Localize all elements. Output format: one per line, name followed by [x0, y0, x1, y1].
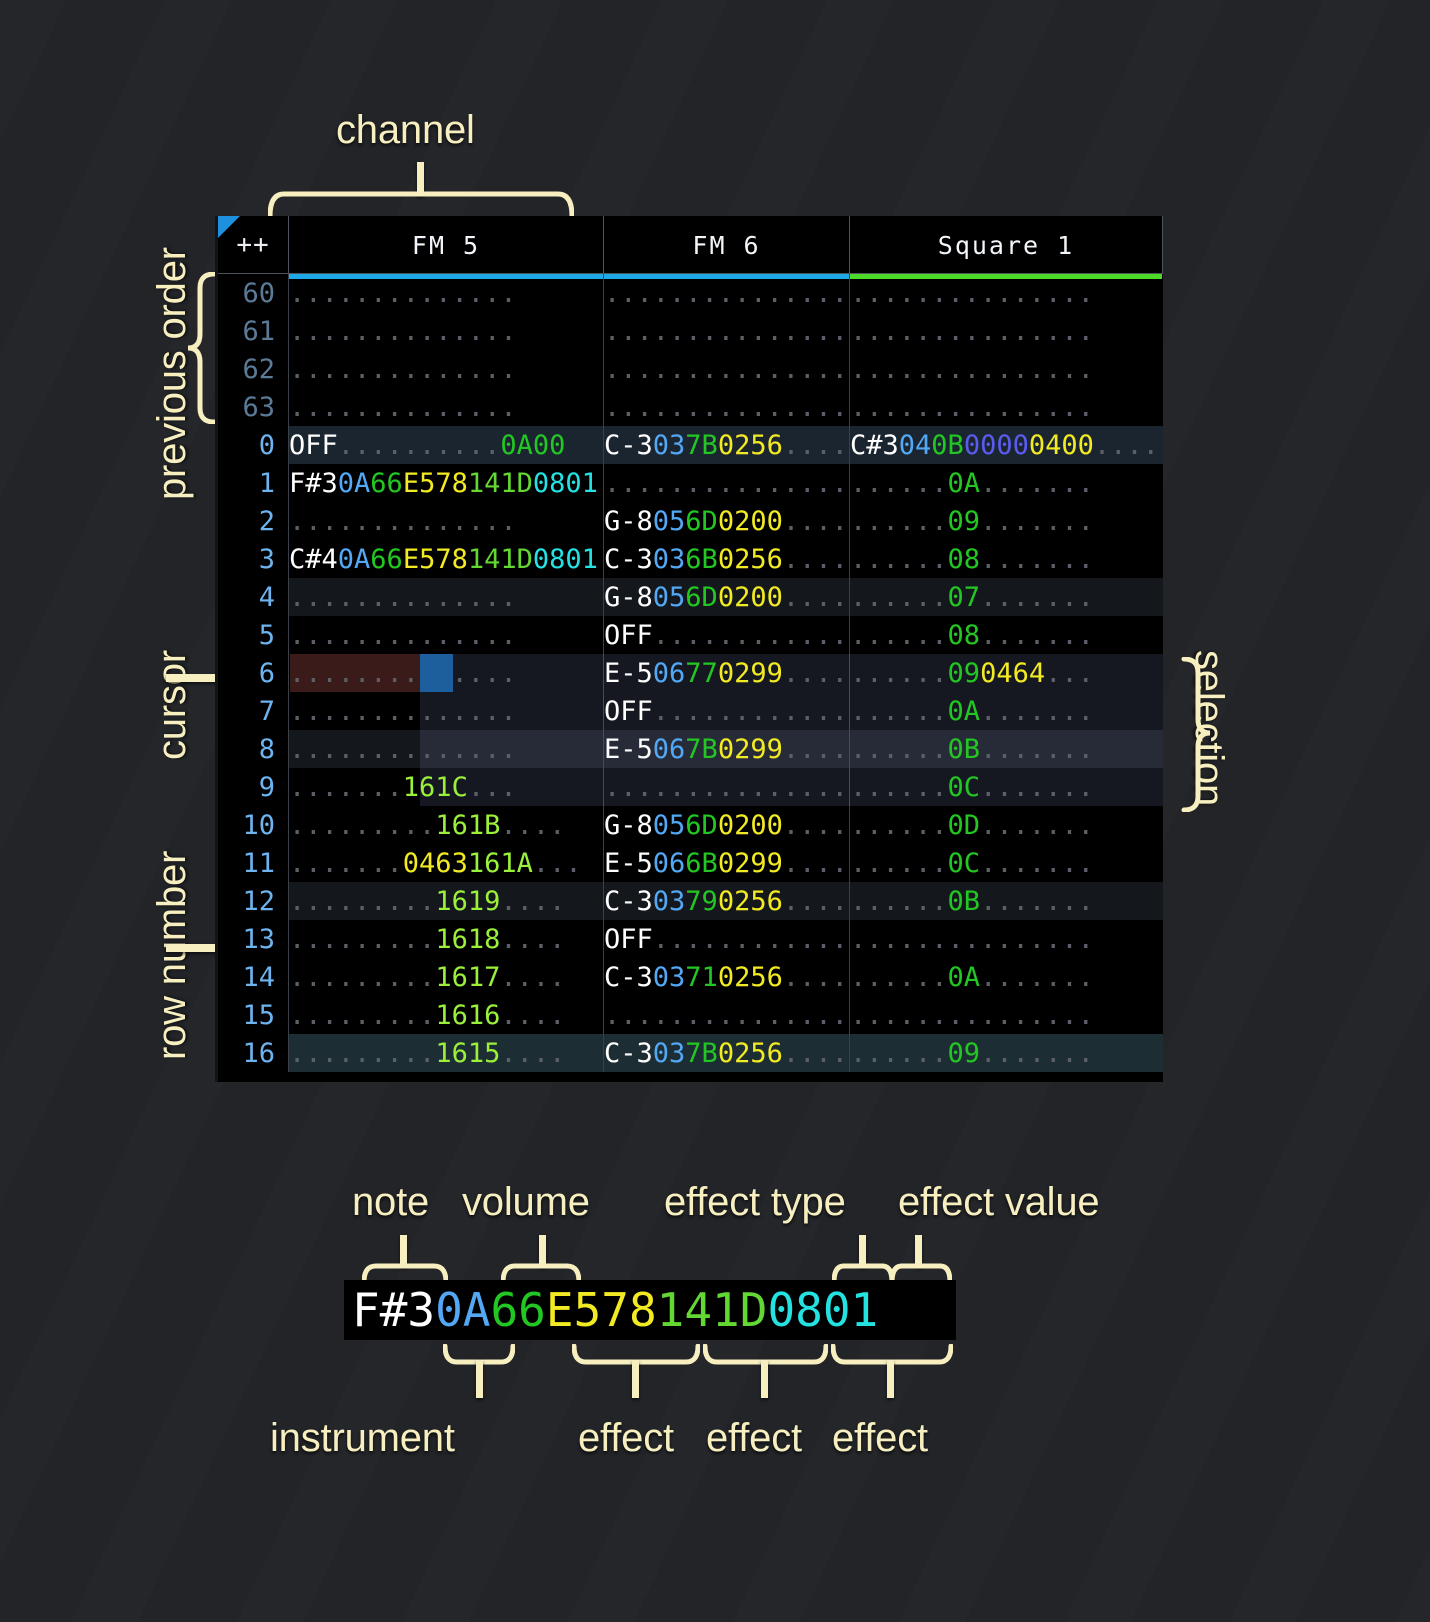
pattern-cell-fm6[interactable]: C-303790256....: [604, 882, 850, 920]
cell-segment: ....: [783, 544, 848, 575]
cell-segment: 05: [653, 582, 686, 613]
cell-segment: G-8: [604, 506, 653, 537]
cell-segment: 0A: [948, 696, 981, 727]
cell-segment: E578: [403, 468, 468, 499]
pattern-cell-square1[interactable]: C#3040B00000400....: [850, 426, 1163, 464]
cell-segment: 09: [948, 506, 981, 537]
cell-segment: 08: [948, 620, 981, 651]
legend-segment: 66: [490, 1283, 545, 1337]
pattern-cell-fm5[interactable]: C#40A66E578141D0801: [289, 540, 604, 578]
row-number: 62: [218, 350, 289, 388]
cell-segment: ....: [783, 734, 848, 765]
pattern-cell-fm5[interactable]: .......0463161A...: [289, 844, 604, 882]
cell-segment: .......: [980, 468, 1094, 499]
pattern-row[interactable]: 60......................................…: [218, 274, 1163, 312]
cell-segment: 06: [653, 848, 686, 879]
annotation-effect3-stem: [887, 1360, 894, 1398]
cell-segment: 161A: [468, 848, 533, 879]
cell-segment: .........: [289, 810, 435, 841]
cell-segment: ......: [850, 620, 948, 651]
cell-segment: 0400: [1029, 430, 1094, 461]
row-number: 60: [218, 274, 289, 312]
pattern-row[interactable]: 10.........161B....G-8056D0200..........…: [218, 806, 1163, 844]
cell-segment: 04: [899, 430, 932, 461]
row-cells: ..............OFF..................0A...…: [289, 692, 1163, 730]
pattern-cell-square1[interactable]: ......08.......: [850, 540, 1163, 578]
cell-segment: .........: [289, 962, 435, 993]
cell-segment: ......: [850, 544, 948, 575]
cell-segment: E-5: [604, 848, 653, 879]
pattern-cell-square1[interactable]: ......0D.......: [850, 806, 1163, 844]
pattern-row[interactable]: 8..............E-5067B0299..........0B..…: [218, 730, 1163, 768]
pattern-row[interactable]: 0OFF..........0A00C-3037B0256....C#3040B…: [218, 426, 1163, 464]
pattern-cell-fm6[interactable]: OFF............: [604, 616, 850, 654]
pattern-row[interactable]: 1F#30A66E578141D0801....................…: [218, 464, 1163, 502]
cell-segment: 1619: [435, 886, 500, 917]
cell-segment: 0A: [948, 962, 981, 993]
cell-segment: ......: [850, 658, 948, 689]
cell-segment: ...............: [604, 278, 848, 309]
pattern-row[interactable]: 15.........1616.........................…: [218, 996, 1163, 1034]
cell-segment: C-3: [604, 544, 653, 575]
cell-segment: 08: [948, 544, 981, 575]
pattern-cell-fm6[interactable]: E-5066B0299....: [604, 844, 850, 882]
cell-segment: C#4: [289, 544, 338, 575]
row-number: 9: [218, 768, 289, 806]
cell-segment: 0299: [718, 734, 783, 765]
cell-segment: 0A: [948, 468, 981, 499]
cell-segment: ...............: [850, 1000, 1094, 1031]
pattern-cell-fm6[interactable]: ...............: [604, 388, 850, 426]
pattern-cell-square1[interactable]: ......0C.......: [850, 768, 1163, 806]
legend-segment: E578: [546, 1283, 657, 1337]
cell-segment: .......: [980, 582, 1094, 613]
pattern-cell-square1[interactable]: ......090464...: [850, 654, 1163, 692]
cell-segment: ..............: [289, 354, 517, 385]
pattern-cell-fm5[interactable]: F#30A66E578141D0801: [289, 464, 604, 502]
pattern-cell-fm5[interactable]: ..............: [289, 616, 604, 654]
pattern-cell-fm6[interactable]: ...............: [604, 768, 850, 806]
cell-segment: C#3: [850, 430, 899, 461]
cell-segment: ......: [850, 696, 948, 727]
legend-segment: 0801: [767, 1283, 878, 1337]
cell-segment: ...............: [604, 354, 848, 385]
cell-segment: .........: [289, 924, 435, 955]
annotation-effect2-stem: [761, 1360, 768, 1398]
annotation-cursor-label: cursor: [150, 650, 195, 760]
row-cells: ..............OFF..................08...…: [289, 616, 1163, 654]
cell-segment: 0463: [403, 848, 468, 879]
row-number: 3: [218, 540, 289, 578]
cell-segment: .........: [289, 1038, 435, 1069]
pattern-cell-square1[interactable]: ......08.......: [850, 616, 1163, 654]
channel-header-square1-label: Square 1: [938, 231, 1074, 260]
annotation-effect1-label: effect: [578, 1416, 674, 1461]
cell-segment: 0256: [718, 886, 783, 917]
pattern-cell-fm5[interactable]: ..............: [289, 312, 604, 350]
cell-segment: 0256: [718, 430, 783, 461]
pattern-row[interactable]: 63......................................…: [218, 388, 1163, 426]
row-cells: ..............G-8056D0200..........09...…: [289, 502, 1163, 540]
annotation-row-number-label: row number: [150, 851, 195, 1060]
row-number: 16: [218, 1034, 289, 1072]
pattern-row[interactable]: 3C#40A66E578141D0801C-3036B0256.........…: [218, 540, 1163, 578]
pattern-row[interactable]: 6..............E-506770299..........0904…: [218, 654, 1163, 692]
pattern-cell-fm6[interactable]: ...............: [604, 312, 850, 350]
row-number: 4: [218, 578, 289, 616]
pattern-cell-fm6[interactable]: E-5067B0299....: [604, 730, 850, 768]
cell-segment: .......: [980, 506, 1094, 537]
row-number: 2: [218, 502, 289, 540]
cell-segment: ............: [653, 696, 848, 727]
cell-segment: .......: [980, 696, 1094, 727]
cell-segment: 6B: [685, 544, 718, 575]
pattern-cell-fm6[interactable]: C-3036B0256....: [604, 540, 850, 578]
pattern-row[interactable]: 7..............OFF..................0A..…: [218, 692, 1163, 730]
cell-segment: 03: [653, 886, 686, 917]
cell-segment: ....: [500, 924, 565, 955]
cell-segment: 1615: [435, 1038, 500, 1069]
pattern-cell-fm6[interactable]: E-506770299....: [604, 654, 850, 692]
cell-segment: ...............: [604, 772, 848, 803]
row-cells: .........1619....C-303790256..........0B…: [289, 882, 1163, 920]
row-cells: .......161C........................0C...…: [289, 768, 1163, 806]
pattern-cell-square1[interactable]: ......0A.......: [850, 692, 1163, 730]
cell-segment: .......: [980, 772, 1094, 803]
cell-segment: 03: [653, 430, 686, 461]
cell-segment: 0D: [948, 810, 981, 841]
cell-segment: ......: [850, 962, 948, 993]
cell-segment: 07: [948, 582, 981, 613]
pattern-cell-fm5[interactable]: .........161B....: [289, 806, 604, 844]
cell-segment: ....: [500, 1038, 565, 1069]
pattern-cell-fm5[interactable]: OFF..........0A00: [289, 426, 604, 464]
cell-segment: 6B: [685, 848, 718, 879]
cell-segment: 6D: [685, 506, 718, 537]
pattern-cell-fm5[interactable]: .......161C...: [289, 768, 604, 806]
annotation-effect-value-label: effect value: [898, 1180, 1099, 1225]
cell-segment: ...............: [850, 924, 1094, 955]
pattern-cell-fm5[interactable]: ..............: [289, 502, 604, 540]
cell-segment: 0A00: [500, 430, 565, 461]
cell-segment: ......: [850, 506, 948, 537]
cell-segment: .......: [980, 620, 1094, 651]
annotation-effect3-label: effect: [832, 1416, 928, 1461]
cell-segment: 66: [370, 544, 403, 575]
pattern-cell-fm6[interactable]: G-8056D0200....: [604, 578, 850, 616]
pattern-cell-fm6[interactable]: ...............: [604, 464, 850, 502]
cell-segment: 0299: [718, 848, 783, 879]
cell-segment: 77: [685, 658, 718, 689]
cell-segment: ....: [783, 582, 848, 613]
row-cells: ........................................…: [289, 350, 1163, 388]
pattern-cell-legend: F#30A66E578141D0801: [344, 1280, 956, 1340]
cell-segment: 0801: [533, 468, 598, 499]
cell-segment: .......: [980, 962, 1094, 993]
annotation-effect1-stem: [632, 1360, 639, 1398]
cell-segment: OFF: [289, 430, 338, 461]
cell-segment: 0B: [948, 886, 981, 917]
pattern-grid[interactable]: 60......................................…: [218, 274, 1163, 1072]
row-cells: ........................................…: [289, 312, 1163, 350]
row-cells: ..............G-8056D0200..........07...…: [289, 578, 1163, 616]
pattern-cell-fm5[interactable]: ..............: [289, 274, 604, 312]
row-cells: ..............E-506770299..........09046…: [289, 654, 1163, 692]
pattern-cell-square1[interactable]: ...............: [850, 274, 1163, 312]
cell-segment: 6D: [685, 582, 718, 613]
cell-segment: 1616: [435, 1000, 500, 1031]
cell-segment: 141D: [468, 544, 533, 575]
pattern-row[interactable]: 16.........1615....C-3037B0256..........…: [218, 1034, 1163, 1072]
cell-segment: .......: [980, 848, 1094, 879]
cell-segment: ......: [850, 734, 948, 765]
row-number: 0: [218, 426, 289, 464]
pattern-cell-square1[interactable]: ......0B.......: [850, 730, 1163, 768]
cell-segment: .......: [289, 772, 403, 803]
cell-segment: 1617: [435, 962, 500, 993]
pattern-cell-square1[interactable]: ......0A.......: [850, 958, 1163, 996]
cell-segment: C-3: [604, 962, 653, 993]
cell-segment: ....: [783, 506, 848, 537]
pattern-row[interactable]: 9.......161C........................0C..…: [218, 768, 1163, 806]
cell-segment: ....: [783, 810, 848, 841]
cell-segment: 7B: [685, 430, 718, 461]
row-number: 10: [218, 806, 289, 844]
cell-segment: E-5: [604, 658, 653, 689]
cell-segment: 161B: [435, 810, 500, 841]
row-number: 11: [218, 844, 289, 882]
cell-segment: .......: [289, 848, 403, 879]
row-cells: ........................................…: [289, 388, 1163, 426]
cell-segment: 06: [653, 734, 686, 765]
cell-segment: ....: [500, 810, 565, 841]
row-number: 5: [218, 616, 289, 654]
cell-segment: 05: [653, 506, 686, 537]
pattern-cell-fm5[interactable]: ..............: [289, 692, 604, 730]
cell-segment: ...............: [604, 392, 848, 423]
pattern-cell-square1[interactable]: ...............: [850, 312, 1163, 350]
cell-segment: OFF: [604, 620, 653, 651]
pattern-cell-fm5[interactable]: .........1616....: [289, 996, 604, 1034]
cell-segment: ....: [783, 848, 848, 879]
row-number: 6: [218, 654, 289, 692]
pattern-cell-square1[interactable]: ...............: [850, 920, 1163, 958]
pattern-cell-fm6[interactable]: G-8056D0200....: [604, 502, 850, 540]
cell-segment: 0000: [964, 430, 1029, 461]
pattern-cell-fm6[interactable]: ...............: [604, 996, 850, 1034]
cell-segment: 7B: [685, 734, 718, 765]
cell-segment: 79: [685, 886, 718, 917]
row-cells: ........................................…: [289, 274, 1163, 312]
channel-header-fm6-label: FM 6: [692, 231, 760, 260]
cell-segment: 0256: [718, 962, 783, 993]
cell-segment: 71: [685, 962, 718, 993]
cell-segment: ..............: [289, 658, 517, 689]
cell-segment: 05: [653, 810, 686, 841]
cell-segment: ......: [850, 848, 948, 879]
cell-segment: 1618: [435, 924, 500, 955]
pattern-cell-square1[interactable]: ......09.......: [850, 502, 1163, 540]
cell-segment: 141D: [468, 468, 533, 499]
channel-header-fm6[interactable]: FM 6: [604, 216, 850, 274]
cell-segment: 161C: [403, 772, 468, 803]
cell-segment: E-5: [604, 734, 653, 765]
pattern-cell-fm5[interactable]: ..............: [289, 350, 604, 388]
row-number: 1: [218, 464, 289, 502]
pattern-cell-fm6[interactable]: C-303710256....: [604, 958, 850, 996]
cell-segment: ..............: [289, 316, 517, 347]
cell-segment: OFF: [604, 696, 653, 727]
cell-segment: .......: [980, 810, 1094, 841]
pattern-cell-fm5[interactable]: .........1619....: [289, 882, 604, 920]
cell-segment: C-3: [604, 1038, 653, 1069]
cell-segment: ..............: [289, 582, 517, 613]
pattern-cell-square1[interactable]: ......09.......: [850, 1034, 1163, 1072]
pattern-row[interactable]: 13.........1618....OFF..................…: [218, 920, 1163, 958]
channel-header-fm5-label: FM 5: [412, 231, 480, 260]
row-number: 8: [218, 730, 289, 768]
cell-segment: G-8: [604, 582, 653, 613]
cell-segment: 7B: [685, 1038, 718, 1069]
pattern-row[interactable]: 62......................................…: [218, 350, 1163, 388]
cell-segment: ....: [783, 430, 848, 461]
cell-segment: 0200: [718, 582, 783, 613]
row-number: 61: [218, 312, 289, 350]
pattern-cell-fm5[interactable]: .........1618....: [289, 920, 604, 958]
cell-segment: 09: [948, 1038, 981, 1069]
channel-header-square1[interactable]: Square 1: [850, 216, 1163, 274]
pattern-cell-square1[interactable]: ......07.......: [850, 578, 1163, 616]
cell-segment: .......: [980, 544, 1094, 575]
pattern-cell-square1[interactable]: ...............: [850, 388, 1163, 426]
row-cells: .........1618....OFF....................…: [289, 920, 1163, 958]
cell-segment: ..............: [289, 620, 517, 651]
cell-segment: ..............: [289, 278, 517, 309]
pattern-cell-square1[interactable]: ......0C.......: [850, 844, 1163, 882]
annotation-volume-label: volume: [462, 1180, 590, 1225]
cell-segment: ....: [500, 962, 565, 993]
annotation-selection-brace: [1180, 657, 1212, 812]
pattern-cell-square1[interactable]: ...............: [850, 350, 1163, 388]
pattern-cell-fm6[interactable]: C-3037B0256....: [604, 426, 850, 464]
pattern-cell-fm5[interactable]: ..............: [289, 578, 604, 616]
cell-segment: ..............: [289, 696, 517, 727]
row-cells: .......0463161A...E-5066B0299..........0…: [289, 844, 1163, 882]
pattern-cell-fm6[interactable]: OFF............: [604, 920, 850, 958]
cell-segment: 0256: [718, 1038, 783, 1069]
cell-segment: ...: [1045, 658, 1094, 689]
pattern-editor[interactable]: ++ FM 5 FM 6 Square 1 60................…: [215, 216, 1163, 1082]
cell-segment: ...............: [850, 392, 1094, 423]
pattern-row[interactable]: 5..............OFF..................08..…: [218, 616, 1163, 654]
cell-segment: ..........: [338, 430, 501, 461]
cell-segment: 0464: [980, 658, 1045, 689]
channel-header-row: ++ FM 5 FM 6 Square 1: [218, 216, 1163, 274]
pattern-cell-fm6[interactable]: G-8056D0200....: [604, 806, 850, 844]
row-cells: .........1616...........................…: [289, 996, 1163, 1034]
cell-segment: ...: [468, 772, 517, 803]
row-cells: OFF..........0A00C-3037B0256....C#3040B0…: [289, 426, 1163, 464]
corner-marker-icon: [218, 216, 240, 238]
cell-segment: F#3: [289, 468, 338, 499]
row-cells: .........161B....G-8056D0200..........0D…: [289, 806, 1163, 844]
annotation-channel-brace: [268, 190, 574, 218]
cell-segment: ......: [850, 468, 948, 499]
pattern-cell-fm6[interactable]: ...............: [604, 350, 850, 388]
pattern-cell-fm5[interactable]: ..............: [289, 730, 604, 768]
cell-segment: ......: [850, 810, 948, 841]
channel-header-fm5[interactable]: FM 5: [289, 216, 604, 274]
cell-segment: ......: [850, 582, 948, 613]
row-cells: .........1615....C-3037B0256..........09…: [289, 1034, 1163, 1072]
cell-segment: .......: [980, 886, 1094, 917]
cell-segment: 0299: [718, 658, 783, 689]
cell-segment: .......: [980, 1038, 1094, 1069]
cell-segment: 0256: [718, 544, 783, 575]
pattern-cell-fm5[interactable]: ..............: [289, 388, 604, 426]
pattern-cell-fm6[interactable]: OFF............: [604, 692, 850, 730]
cell-segment: 03: [653, 962, 686, 993]
pattern-cell-fm5[interactable]: .........1615....: [289, 1034, 604, 1072]
pattern-row[interactable]: 2..............G-8056D0200..........09..…: [218, 502, 1163, 540]
row-number: 7: [218, 692, 289, 730]
cell-segment: ............: [653, 620, 848, 651]
pattern-row[interactable]: 12.........1619....C-303790256..........…: [218, 882, 1163, 920]
pattern-cell-square1[interactable]: ......0B.......: [850, 882, 1163, 920]
pattern-cell-square1[interactable]: ...............: [850, 996, 1163, 1034]
pattern-cell-fm5[interactable]: ..............: [289, 654, 604, 692]
annotation-effect-type-label: effect type: [664, 1180, 846, 1225]
cell-segment: ...............: [850, 278, 1094, 309]
cell-segment: 0B: [948, 734, 981, 765]
cell-segment: OFF: [604, 924, 653, 955]
cell-segment: ...............: [850, 354, 1094, 385]
cell-segment: 0A: [338, 468, 371, 499]
annotation-instrument-label: instrument: [270, 1416, 455, 1461]
legend-segment: F#3: [352, 1283, 435, 1337]
pattern-cell-fm6[interactable]: ...............: [604, 274, 850, 312]
cell-segment: ...............: [850, 316, 1094, 347]
pattern-row[interactable]: 61......................................…: [218, 312, 1163, 350]
cell-segment: C-3: [604, 886, 653, 917]
pattern-cell-square1[interactable]: ......0A.......: [850, 464, 1163, 502]
cell-segment: .........: [289, 886, 435, 917]
cell-segment: ....: [783, 962, 848, 993]
cell-segment: 09: [948, 658, 981, 689]
cell-segment: ....: [500, 886, 565, 917]
cell-segment: ...............: [604, 1000, 848, 1031]
pattern-row[interactable]: 11.......0463161A...E-5066B0299.........…: [218, 844, 1163, 882]
row-number: 14: [218, 958, 289, 996]
row-cells: ..............E-5067B0299..........0B...…: [289, 730, 1163, 768]
cell-segment: E578: [403, 544, 468, 575]
annotation-note-label: note: [352, 1180, 429, 1225]
cell-segment: C-3: [604, 430, 653, 461]
annotation-previous-order-brace: [186, 272, 216, 424]
pattern-row[interactable]: 14.........1617....C-303710256..........…: [218, 958, 1163, 996]
cell-segment: ....: [783, 886, 848, 917]
pattern-cell-fm6[interactable]: C-3037B0256....: [604, 1034, 850, 1072]
cell-segment: .......: [980, 734, 1094, 765]
cell-segment: 0801: [533, 544, 598, 575]
pattern-cell-fm5[interactable]: .........1617....: [289, 958, 604, 996]
cell-segment: ....: [500, 1000, 565, 1031]
pattern-row[interactable]: 4..............G-8056D0200..........07..…: [218, 578, 1163, 616]
row-number: 13: [218, 920, 289, 958]
cell-segment: ......: [850, 886, 948, 917]
row-number: 63: [218, 388, 289, 426]
cell-segment: 0200: [718, 810, 783, 841]
